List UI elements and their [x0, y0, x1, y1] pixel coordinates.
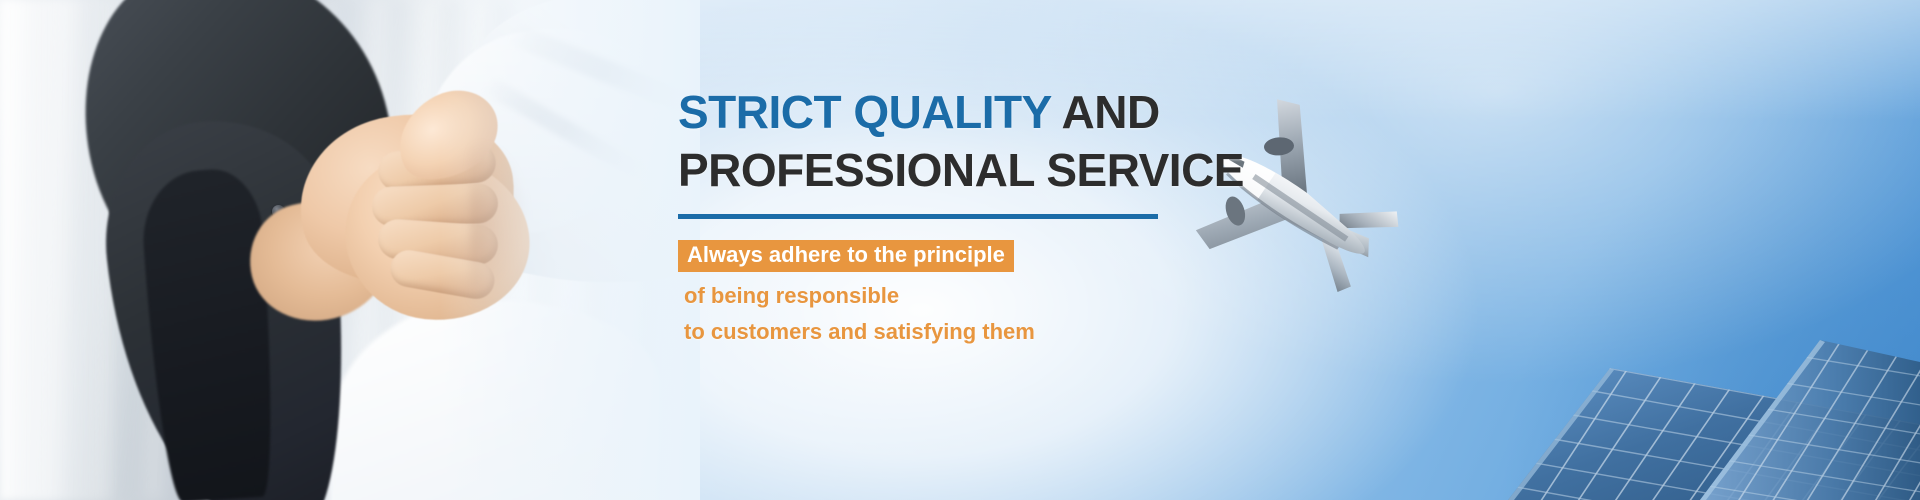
- headline-professional-service: PROFESSIONAL SERVICE: [678, 144, 1244, 196]
- tagline-highlight: Always adhere to the principle: [678, 240, 1014, 272]
- headline-and: AND: [1051, 86, 1160, 138]
- tagline-line-2: of being responsible: [678, 284, 1378, 308]
- banner-copy: STRICT QUALITY AND PROFESSIONAL SERVICE …: [678, 84, 1378, 344]
- tagline-block: Always adhere to the principle of being …: [678, 240, 1378, 345]
- photo-right-fade: [440, 0, 700, 500]
- headline-line-1: STRICT QUALITY AND: [678, 84, 1378, 142]
- promo-banner: STRICT QUALITY AND PROFESSIONAL SERVICE …: [0, 0, 1920, 500]
- business-handshake-photo: [0, 0, 700, 500]
- headline-line-2: PROFESSIONAL SERVICE: [678, 142, 1378, 200]
- solar-panel-array: [1400, 270, 1920, 500]
- tagline-line-3: to customers and satisfying them: [678, 320, 1378, 344]
- headline-strict-quality: STRICT QUALITY: [678, 86, 1051, 138]
- headline-divider: [678, 214, 1158, 219]
